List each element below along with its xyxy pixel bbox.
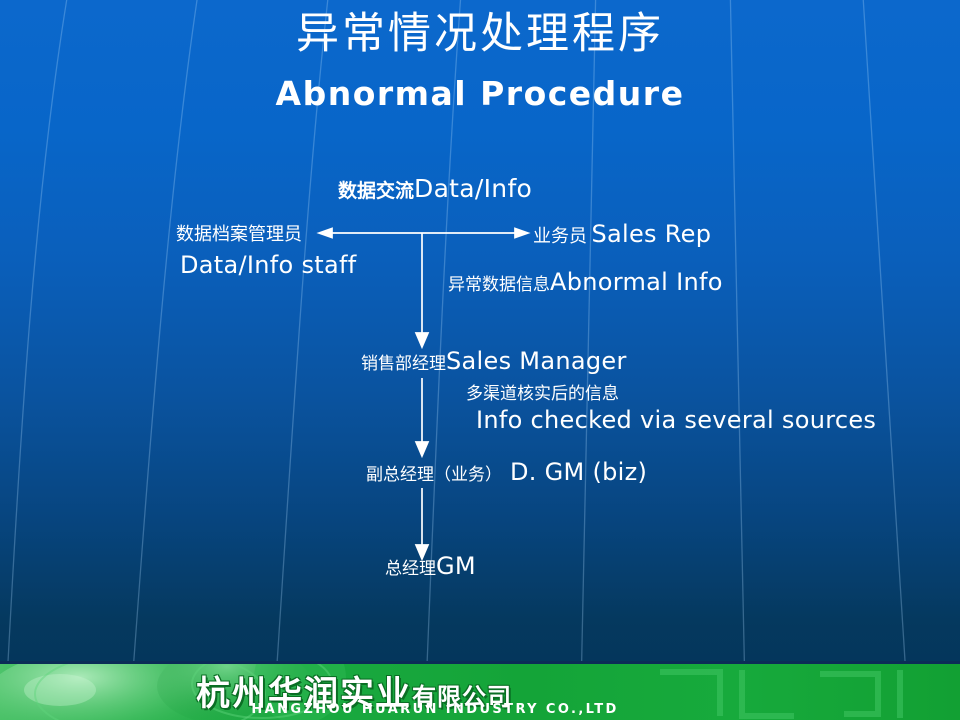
node-sales-rep-en: Sales Rep xyxy=(591,220,711,248)
edge-label-checked-info: 多渠道核实后的信息 Info checked via several sourc… xyxy=(466,385,876,434)
edge-label-data-info-cn: 数据交流 xyxy=(338,180,414,202)
node-deputy-gm: 副总经理（业务）D. GM (biz) xyxy=(366,458,647,486)
node-gm: 总经理GM xyxy=(385,552,476,580)
node-data-info-staff: 数据档案管理员 Data/Info staff xyxy=(176,220,356,279)
arrow-dgm-to-gm xyxy=(416,488,428,559)
node-deputy-gm-en: D. GM (biz) xyxy=(510,458,647,486)
node-data-info-staff-en: Data/Info staff xyxy=(180,251,356,279)
node-data-info-staff-cn: 数据档案管理员 xyxy=(176,224,302,245)
footer-company-name-en: HANGZHOU HUARUN INDUSTRY CO.,LTD xyxy=(200,702,670,717)
node-sales-rep-cn: 业务员 xyxy=(533,226,587,247)
edge-label-abnormal-info-cn: 异常数据信息 xyxy=(448,275,550,295)
slide-canvas: 异常情况处理程序 Abnormal Procedure xyxy=(0,0,960,720)
node-deputy-gm-cn: 副总经理（业务） xyxy=(366,465,502,485)
edge-label-abnormal-info-en: Abnormal Info xyxy=(550,268,723,296)
edge-label-data-info-en: Data/Info xyxy=(414,174,532,203)
edge-label-data-info: 数据交流Data/Info xyxy=(338,174,532,203)
node-gm-en: GM xyxy=(436,552,476,580)
node-sales-manager: 销售部经理Sales Manager xyxy=(361,347,627,375)
node-sales-manager-cn: 销售部经理 xyxy=(361,354,446,374)
footer-logo-text: 杭州华润实业有限公司 HANGZHOU HUARUN INDUSTRY CO.,… xyxy=(0,664,960,720)
node-sales-manager-en: Sales Manager xyxy=(446,347,627,375)
node-gm-cn: 总经理 xyxy=(385,559,436,579)
arrow-manager-to-dgm xyxy=(416,378,428,456)
footer-logo-banner: 杭州华润实业有限公司 HANGZHOU HUARUN INDUSTRY CO.,… xyxy=(0,664,960,720)
slide-title-chinese: 异常情况处理程序 xyxy=(0,8,960,60)
edge-label-checked-info-en: Info checked via several sources xyxy=(476,407,876,434)
edge-label-abnormal-info: 异常数据信息Abnormal Info xyxy=(448,268,723,296)
slide-title-english: Abnormal Procedure xyxy=(0,74,960,114)
node-sales-rep: 业务员 Sales Rep xyxy=(533,220,711,248)
arrow-salesrep-to-manager xyxy=(416,233,428,347)
edge-label-checked-info-cn: 多渠道核实后的信息 xyxy=(466,385,876,404)
